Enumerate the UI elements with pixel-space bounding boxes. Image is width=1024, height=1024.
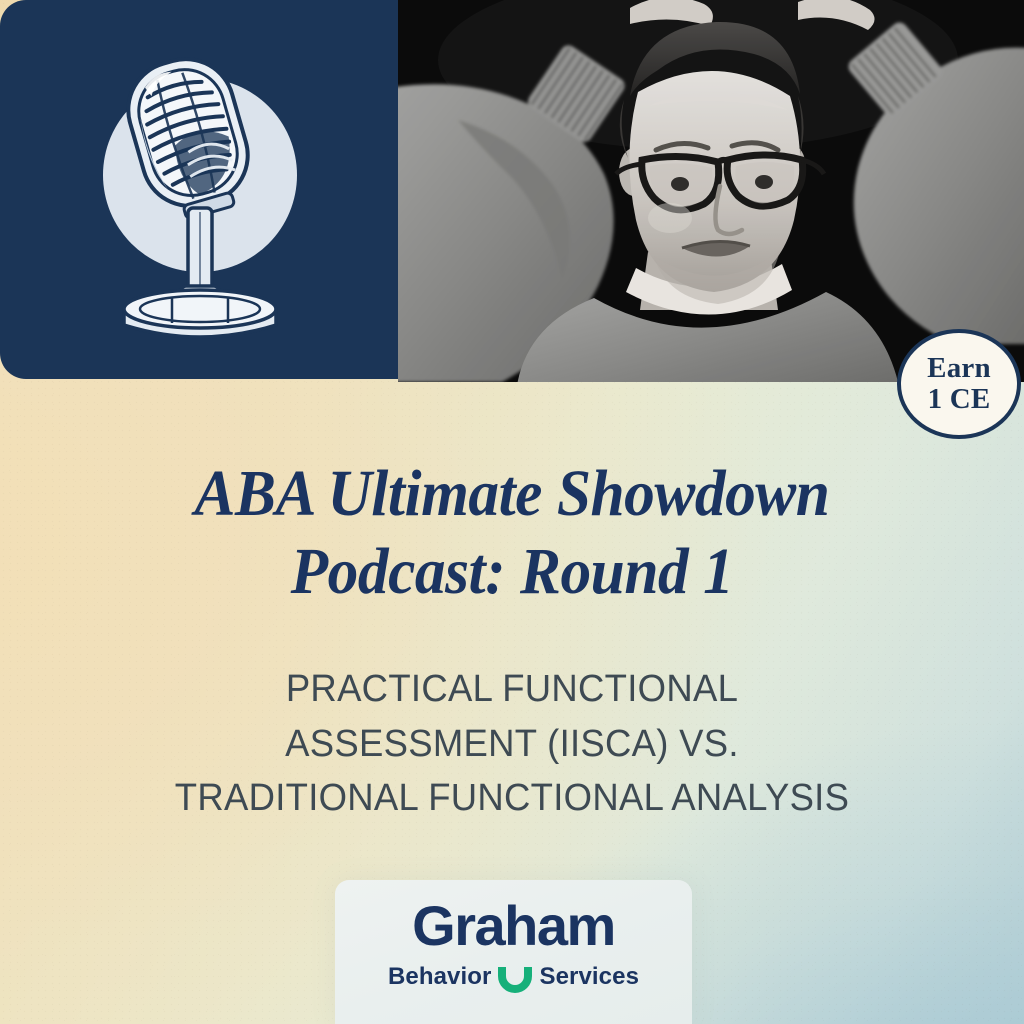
brand-tagline-left: Behavior <box>388 963 492 991</box>
brand-logo-card: Graham Behavior Services <box>335 880 692 1024</box>
subtitle-line-1: PRACTICAL FUNCTIONAL <box>20 662 1003 717</box>
badge-line-1: Earn <box>927 353 991 384</box>
podcast-promo-poster: Earn 1 CE ABA Ultimate Showdown Podcast:… <box>0 0 1024 1024</box>
earn-ce-badge: Earn 1 CE <box>897 329 1021 439</box>
page-subtitle: PRACTICAL FUNCTIONAL ASSESSMENT (IISCA) … <box>20 662 1003 826</box>
guest-portrait-photo <box>398 0 1024 382</box>
page-title: ABA Ultimate Showdown Podcast: Round 1 <box>36 455 988 611</box>
subtitle-line-3: TRADITIONAL FUNCTIONAL ANALYSIS <box>20 771 1003 826</box>
green-u-arc-icon <box>498 967 532 993</box>
title-line-1: ABA Ultimate Showdown <box>195 457 830 530</box>
title-line-2: Podcast: Round 1 <box>36 533 988 611</box>
podcast-logo-panel <box>0 0 398 379</box>
brand-tagline: Behavior Services <box>335 963 692 991</box>
brand-tagline-right: Services <box>539 963 639 991</box>
badge-line-2: 1 CE <box>928 384 991 415</box>
hero-row <box>0 0 1024 382</box>
brand-logo: Graham Behavior Services <box>335 898 692 991</box>
subtitle-line-2: ASSESSMENT (IISCA) VS. <box>20 717 1003 772</box>
vintage-microphone-icon <box>0 0 398 379</box>
brand-wordmark: Graham <box>335 898 692 954</box>
